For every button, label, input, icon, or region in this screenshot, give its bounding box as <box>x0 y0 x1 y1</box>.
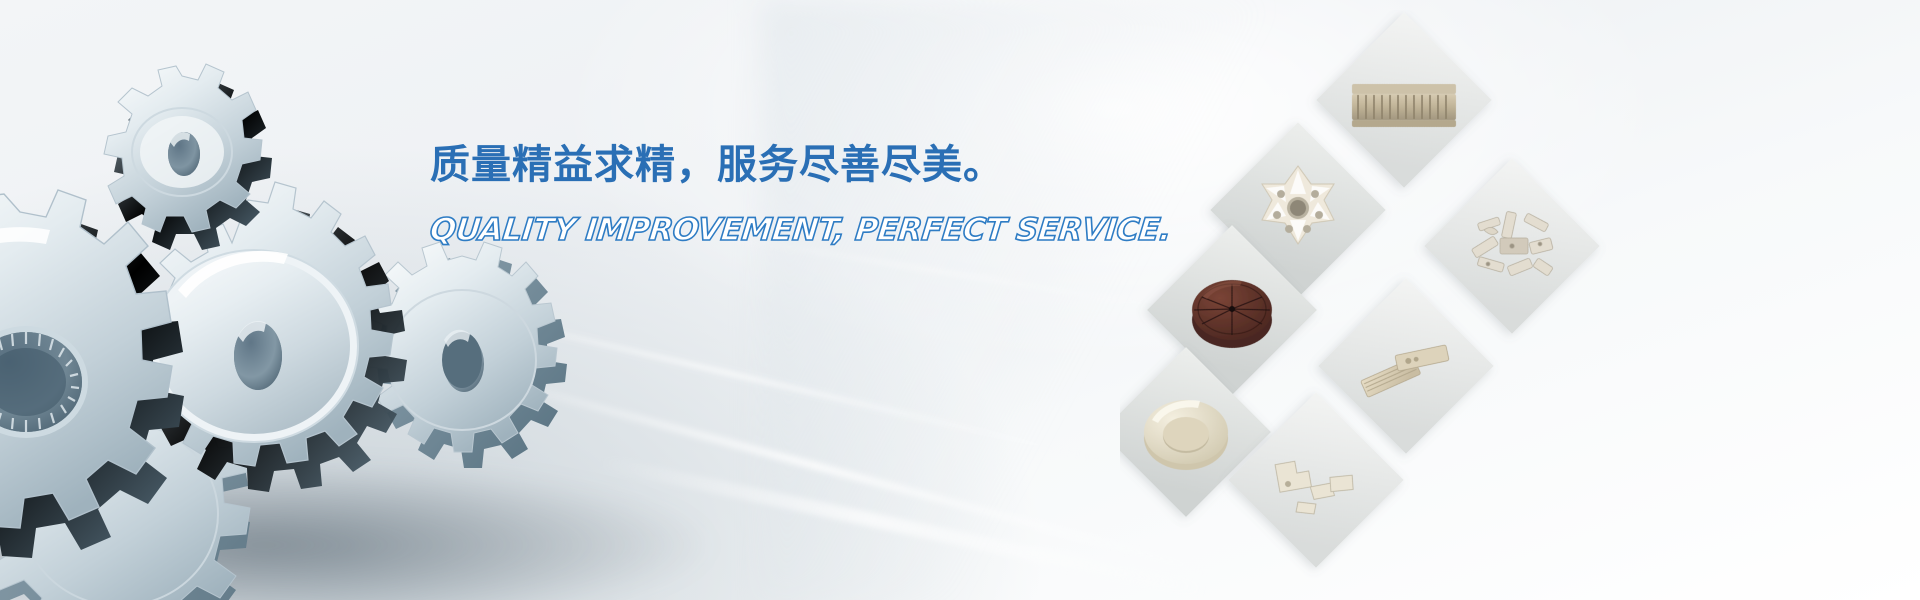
tile-bracket-cluster <box>1424 158 1599 333</box>
gear-group-svg <box>0 30 570 600</box>
banner-headline-zh: 质量精益求精，服务尽善尽美。 <box>430 140 1050 190</box>
gear-small-top <box>104 64 272 250</box>
gear-illustration <box>0 30 570 600</box>
collage-svg <box>1120 10 1920 600</box>
banner-copy: 质量精益求精，服务尽善尽美。 QUALITY IMPROVEMENT, PERF… <box>430 140 1050 248</box>
hero-banner: 质量精益求精，服务尽善尽美。 QUALITY IMPROVEMENT, PERF… <box>0 0 1920 600</box>
tile-vent-grille-part <box>1316 12 1491 187</box>
gear-back-right <box>367 242 567 468</box>
product-diamond-collage <box>1120 10 1920 600</box>
banner-subline-en: QUALITY IMPROVEMENT, PERFECT SERVICE. <box>428 212 1052 248</box>
